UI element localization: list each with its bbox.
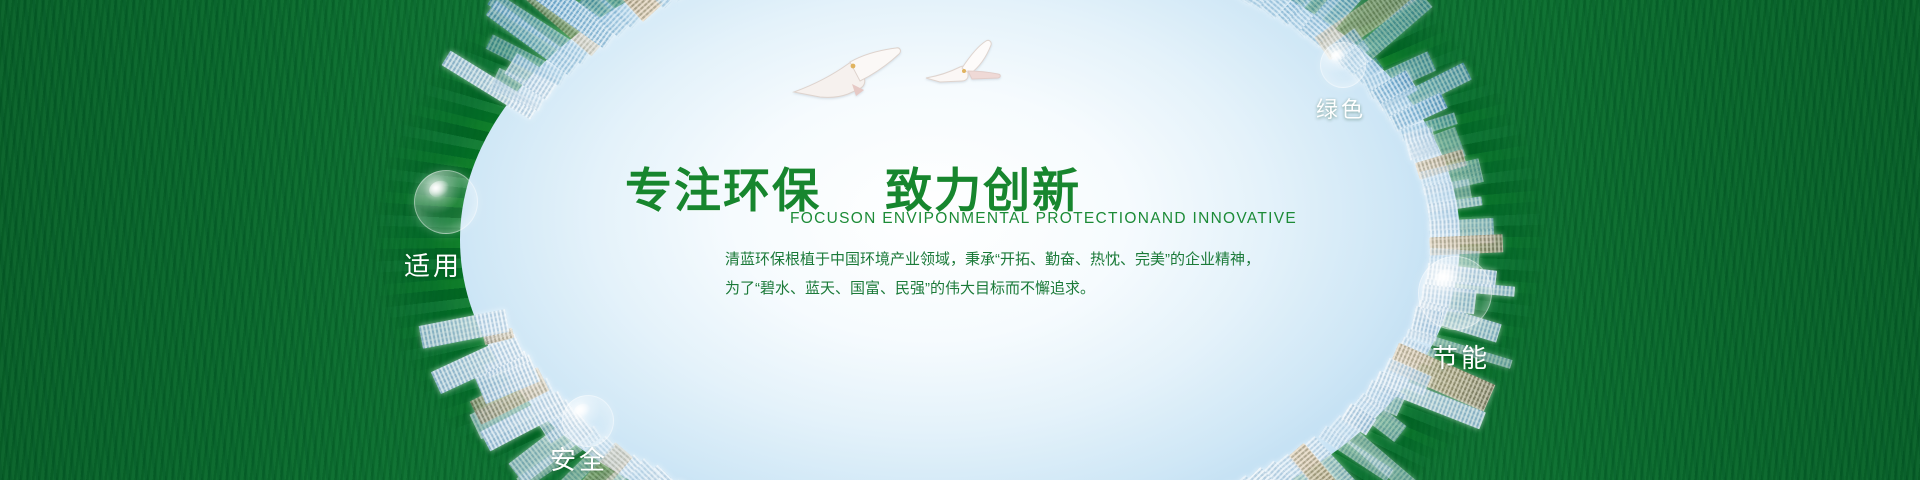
seagull-left-icon — [790, 44, 910, 104]
bubble-icon-jieneng — [1418, 256, 1492, 330]
page-subtitle: FOCUSON ENVIPONMENTAL PROTECTIONAND INNO… — [790, 210, 1297, 228]
description-line-1: 清蓝环保根植于中国环境产业领域，秉承“开拓、勤奋、热忱、完美”的企业精神， — [725, 245, 1260, 274]
feature-label-shiyong: 适用 — [404, 246, 462, 283]
bubble-icon-lvse — [1320, 42, 1366, 88]
feature-label-anquan: 安全 — [550, 440, 608, 477]
bubble-icon-shiyong — [414, 170, 478, 234]
feature-label-jieneng: 节能 — [1432, 338, 1490, 375]
feature-label-lvse: 绿色 — [1316, 92, 1366, 124]
hero-banner: 适用 安全 绿色 节能 专注环保 致力创新 FOCUSON ENVIPONMEN… — [0, 0, 1920, 480]
description-line-2: 为了“碧水、蓝天、国富、民强”的伟大目标而不懈追求。 — [725, 274, 1095, 303]
seagull-right-icon — [920, 38, 1020, 86]
